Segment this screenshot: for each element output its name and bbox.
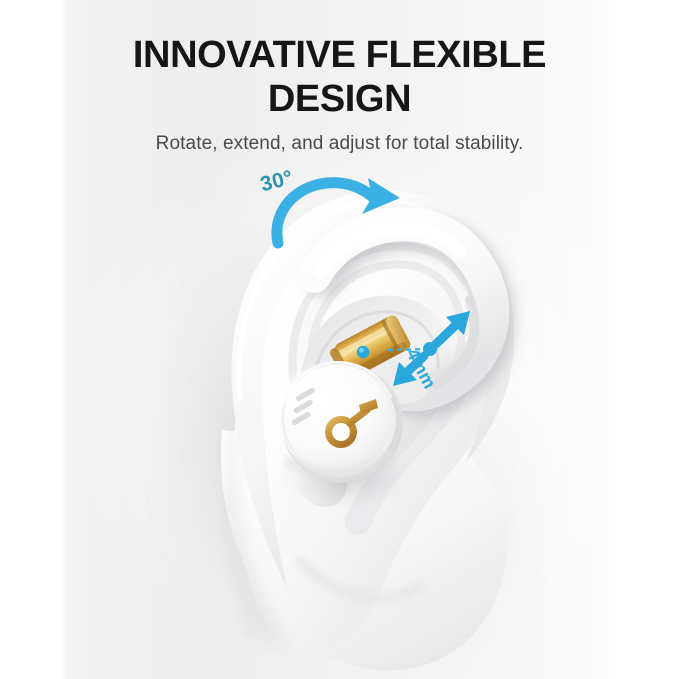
product-marketing-image: INNOVATIVE FLEXIBLE DESIGN Rotate, exten… <box>0 0 679 679</box>
page-headline: INNOVATIVE FLEXIBLE DESIGN <box>0 33 679 121</box>
status-led-dot <box>357 346 369 358</box>
page-subheadline: Rotate, extend, and adjust for total sta… <box>0 133 679 155</box>
